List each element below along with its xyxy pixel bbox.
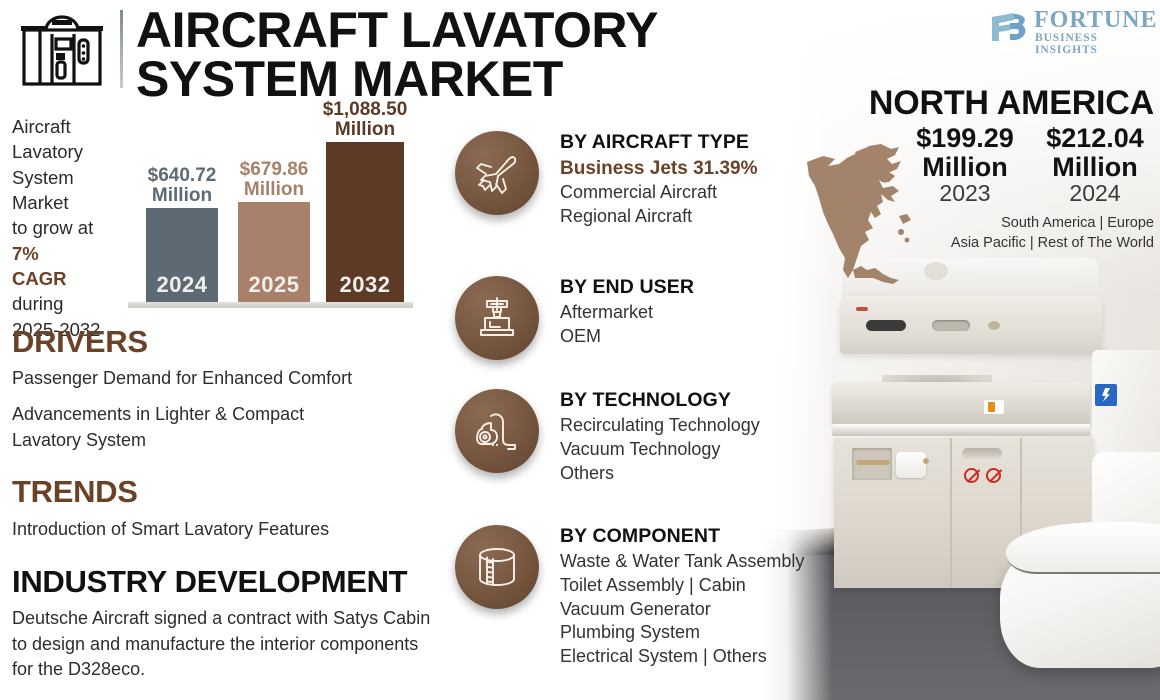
- industry-development-item-1: Deutsche Aircraft signed a contract with…: [12, 606, 437, 683]
- segment-item: Waste & Water Tank Assembly: [560, 550, 880, 574]
- cagr-label: CAGR: [12, 266, 132, 291]
- drivers-heading: DRIVERS: [12, 324, 148, 360]
- header-divider: [120, 10, 123, 88]
- segment-item: Plumbing System: [560, 621, 880, 645]
- photo-waste-slot: [962, 448, 1002, 459]
- chart-baseline: [128, 302, 413, 308]
- fortune-business-insights-logo: FORTUNE BUSINESS INSIGHTS: [990, 8, 1150, 50]
- photo-paper-rod: [856, 460, 890, 465]
- vacuum-cleaner-icon: [455, 389, 539, 473]
- bar-2025: 2025: [238, 202, 310, 302]
- trends-heading: TRENDS: [12, 474, 138, 510]
- segment-text: BY COMPONENT Waste & Water Tank Assembly…: [560, 525, 880, 669]
- segment-title: BY COMPONENT: [560, 525, 880, 548]
- photo-amber-switch: [984, 400, 1004, 414]
- other-regions-line-1: South America | Europe: [784, 213, 1154, 234]
- bar-2032: 2032: [326, 142, 404, 302]
- segment-item: Recirculating Technology: [560, 414, 860, 438]
- bar-value-2024: $640.72Million: [132, 166, 232, 206]
- photo-basin-lip: [832, 424, 1090, 436]
- logo-line-1: FORTUNE: [1034, 7, 1158, 34]
- photo-towel-slot: [866, 320, 906, 331]
- intro-line-4: during: [12, 291, 132, 316]
- intro-text: Aircraft Lavatory System Market to grow …: [12, 114, 132, 342]
- water-tank-icon: [455, 525, 539, 609]
- page-title: AIRCRAFT LAVATORY SYSTEM MARKET: [136, 6, 866, 104]
- region-figure: $212.04 Million 2024: [1036, 124, 1154, 207]
- photo-toilet-paper-roll: [896, 452, 926, 478]
- segment-title: BY TECHNOLOGY: [560, 389, 860, 412]
- region-value: $199.29: [906, 124, 1024, 153]
- region-year: 2023: [906, 181, 1024, 206]
- photo-dispenser-slot: [932, 320, 970, 331]
- fb-monogram-icon: [990, 11, 1030, 43]
- trends-item-1: Introduction of Smart Lavatory Features: [12, 517, 432, 543]
- photo-knob: [988, 321, 1000, 330]
- logo-line-2: BUSINESS INSIGHTS: [1035, 32, 1150, 56]
- bar-label-2024: 2024: [146, 272, 218, 298]
- segment-item: Aftermarket: [560, 301, 860, 325]
- industry-development-heading: INDUSTRY DEVELOPMENT: [12, 564, 407, 600]
- photo-blue-sign-icon: [1095, 384, 1117, 406]
- region-unit: Million: [906, 153, 1024, 182]
- segment-item: Vacuum Generator: [560, 598, 880, 622]
- photo-basin: [832, 382, 1090, 426]
- segment-item: Others: [560, 462, 860, 486]
- infographic-page: AIRCRAFT LAVATORY SYSTEM MARKET FORTUNE …: [0, 0, 1160, 700]
- photo-upper-cabinet: [840, 296, 1102, 354]
- segment-item: Electrical System | Others: [560, 645, 880, 669]
- segment-text: BY TECHNOLOGY Recirculating Technology V…: [560, 389, 860, 485]
- other-regions: South America | Europe Asia Pacific | Re…: [784, 213, 1154, 254]
- segment-item: Vacuum Technology: [560, 438, 860, 462]
- bar-value-2025: $679.86Million: [224, 160, 324, 200]
- other-regions-line-2: Asia Pacific | Rest of The World: [784, 233, 1154, 254]
- region-figures: $199.29 Million 2023 $212.04 Million 202…: [784, 124, 1154, 207]
- intro-line-3: to grow at: [12, 215, 132, 240]
- bar-label-2025: 2025: [238, 272, 310, 298]
- intro-line-2: System Market: [12, 165, 132, 216]
- region-title: NORTH AMERICA: [784, 86, 1154, 120]
- region-year: 2024: [1036, 181, 1154, 206]
- jet-aircraft-icon: [455, 131, 539, 215]
- bar-2024: 2024: [146, 208, 218, 302]
- drivers-item-1: Passenger Demand for Enhanced Comfort: [12, 366, 432, 392]
- region-value: $212.04: [1036, 124, 1154, 153]
- intro-line-1: Aircraft Lavatory: [12, 114, 132, 165]
- bar-label-2032: 2032: [326, 272, 404, 298]
- region-block: NORTH AMERICA $199.29 Million 2023 $212.…: [784, 86, 1154, 254]
- bar-value-2032: $1,088.50Million: [312, 100, 418, 140]
- region-unit: Million: [1036, 153, 1154, 182]
- camp-stove-icon: [455, 276, 539, 360]
- segment-item: OEM: [560, 325, 860, 349]
- lavatory-module-icon: [16, 12, 108, 90]
- segment-item: Toilet Assembly | Cabin: [560, 574, 880, 598]
- market-size-bar-chart: 2024 $640.72Million 2025 $679.86Million …: [128, 118, 418, 308]
- no-smoking-icon: [964, 468, 979, 483]
- drivers-item-2: Advancements in Lighter & Compact Lavato…: [12, 402, 362, 453]
- photo-cabinet-seam: [950, 438, 952, 588]
- cagr-value: 7%: [12, 241, 132, 266]
- region-figure: $199.29 Million 2023: [906, 124, 1024, 207]
- no-disposal-icon: [986, 468, 1001, 483]
